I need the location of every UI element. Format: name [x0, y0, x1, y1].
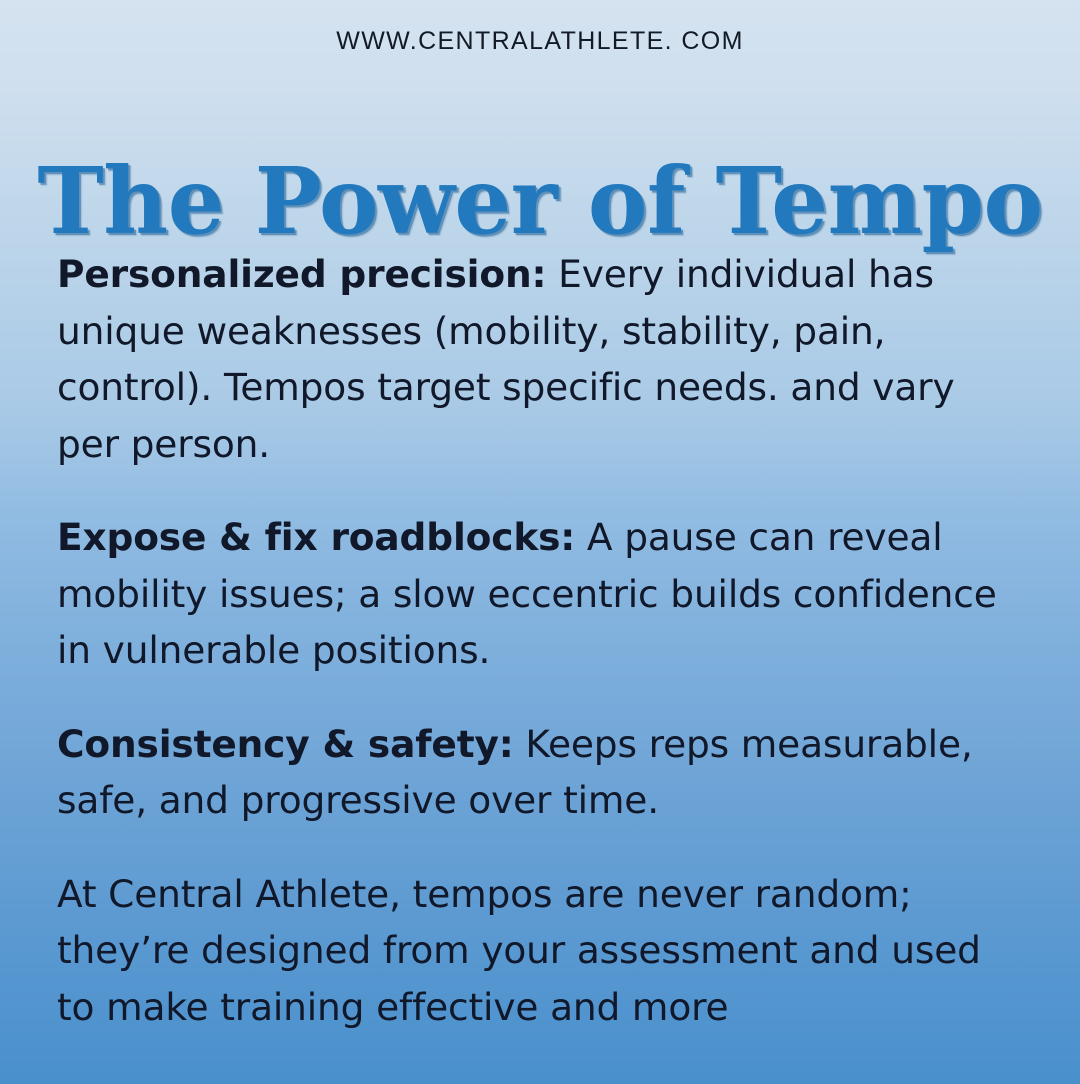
paragraph-expose-fix-roadblocks: Expose & fix roadblocks: A pause can rev…	[57, 509, 1019, 679]
paragraph-consistency-safety: Consistency & safety: Keeps reps measura…	[57, 716, 1019, 829]
body-copy: Personalized precision: Every individual…	[57, 246, 1019, 1035]
paragraph-lead-label: Personalized precision:	[57, 252, 546, 296]
paragraph-lead-label: Expose & fix roadblocks:	[57, 515, 575, 559]
paragraph-text: At Central Athlete, tempos are never ran…	[57, 872, 981, 1029]
paragraph-lead-label: Consistency & safety:	[57, 722, 514, 766]
paragraph-closing: At Central Athlete, tempos are never ran…	[57, 866, 1019, 1036]
poster-canvas: WWW.CENTRALATHLETE. COM The Power of Tem…	[0, 0, 1080, 1084]
page-title: The Power of Tempo	[16, 155, 1064, 247]
paragraph-personalized-precision: Personalized precision: Every individual…	[57, 246, 1019, 472]
site-url-header: WWW.CENTRALATHLETE. COM	[0, 27, 1080, 56]
